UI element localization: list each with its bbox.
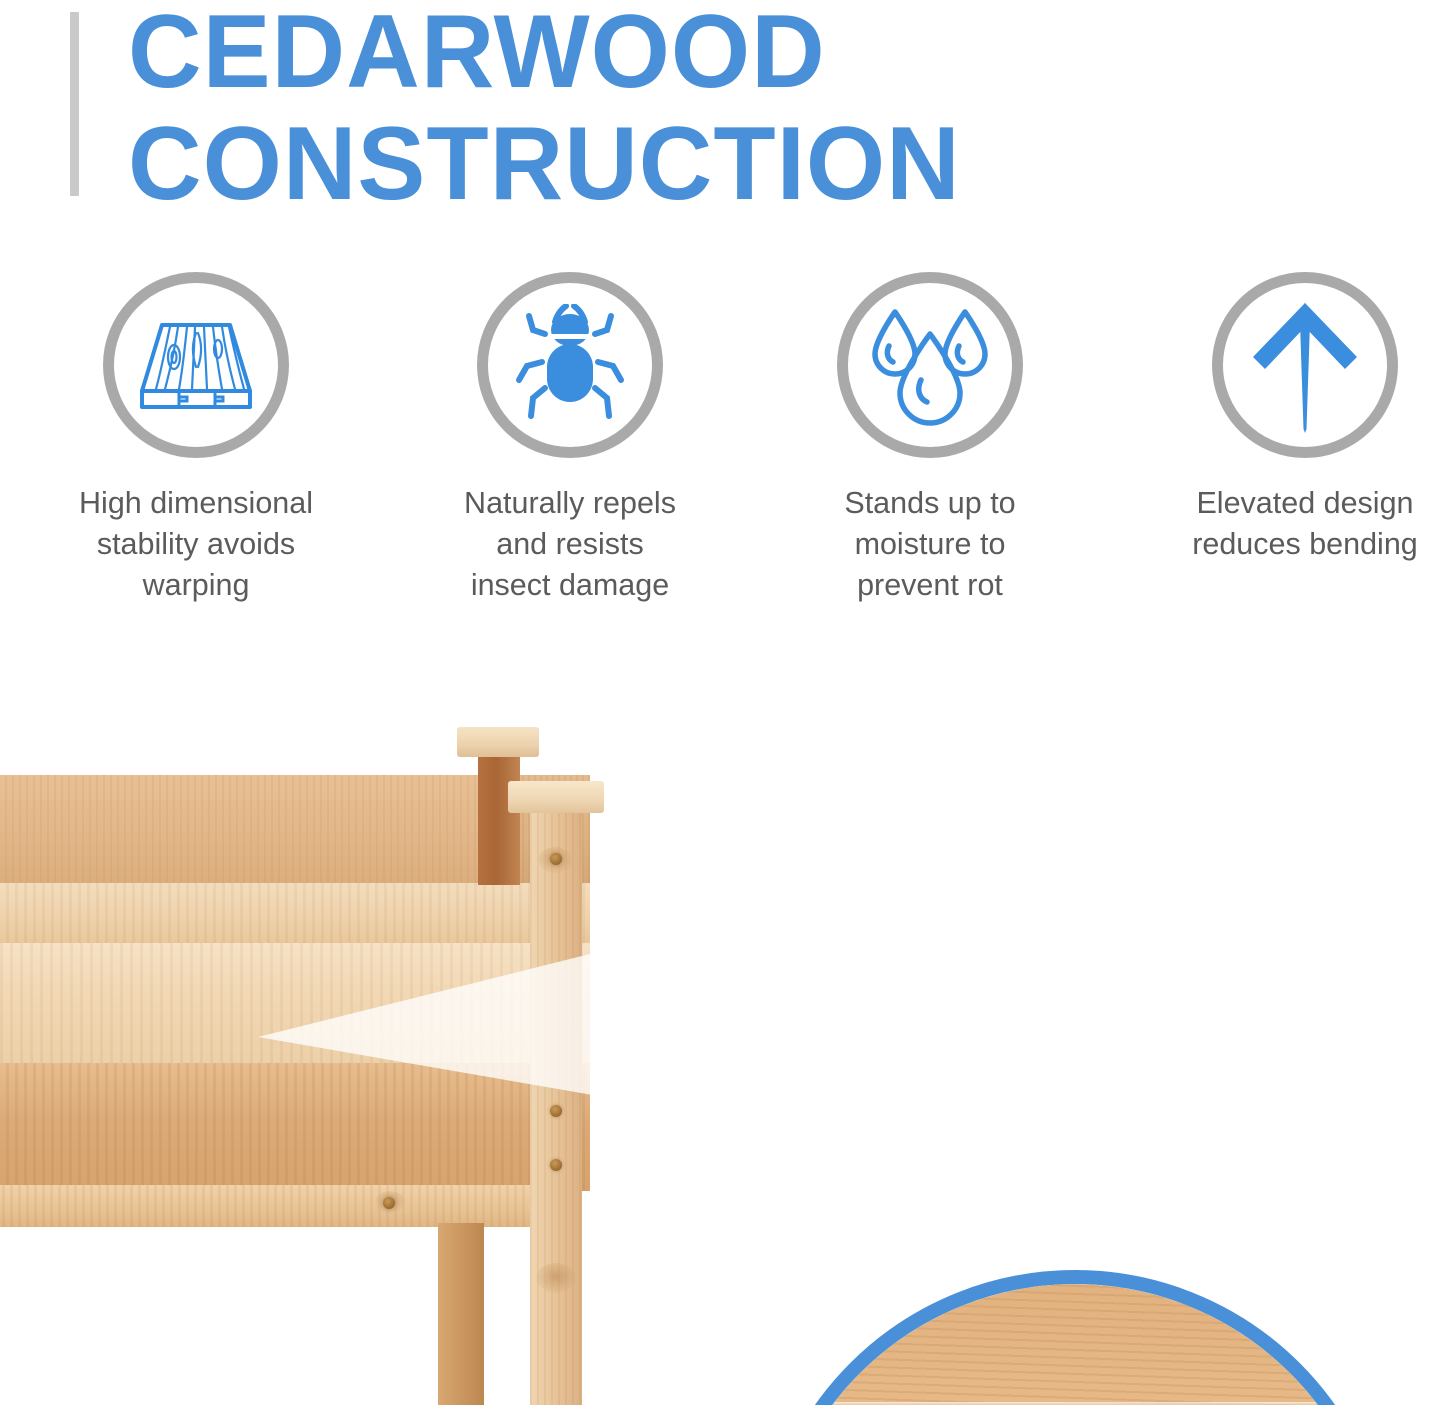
magnifier-wood-texture [771,1284,1379,1405]
planter-top-rail [0,883,590,943]
raised-garden-bed-product-image [0,715,690,1405]
feature-item-elevated-design: Elevated design reduces bending [1120,258,1445,565]
product-photo-area [0,620,1445,1405]
feature-icon-ring-1 [103,272,289,458]
wood-knot [536,1263,576,1293]
planter-rear-corner-post [478,745,520,885]
feature-caption-1: High dimensional stability avoids warpin… [11,483,381,606]
feature-caption-3: Stands up to moisture to prevent rot [745,483,1115,606]
feature-item-dimensional-stability: High dimensional stability avoids warpin… [11,258,381,606]
planter-inner-wall [0,775,485,883]
feature-icon-ring-3 [837,272,1023,458]
planter-bottom-rail [0,1185,570,1227]
feature-caption-4: Elevated design reduces bending [1120,483,1445,565]
wood-grain-magnifier-circle [757,1270,1393,1405]
feature-icon-ring-2 [477,272,663,458]
planter-rear-leg [438,1223,484,1405]
feature-item-moisture-resistance: Stands up to moisture to prevent rot [745,258,1115,606]
planter-front-board-lower [0,1063,590,1191]
planter-rear-post-cap [457,727,539,757]
screw-fastener [550,1159,562,1171]
feature-icon-ring-4 [1212,272,1398,458]
screw-fastener [550,1105,562,1117]
screw-fastener [383,1197,395,1209]
heading-block: CEDARWOOD CONSTRUCTION [0,0,1445,215]
feature-list: High dimensional stability avoids warpin… [0,258,1445,618]
planter-front-corner-post [530,801,582,1405]
planter-front-board-upper [0,943,590,1065]
mag-plank [771,1284,1379,1404]
screw-fastener [550,853,562,865]
feature-item-insect-resistance: Naturally repels and resists insect dama… [385,258,755,606]
heading-accent-rule [70,12,79,196]
planter-front-post-cap [508,781,604,813]
feature-caption-2: Naturally repels and resists insect dama… [385,483,755,606]
page-title: CEDARWOOD CONSTRUCTION [128,0,1206,220]
